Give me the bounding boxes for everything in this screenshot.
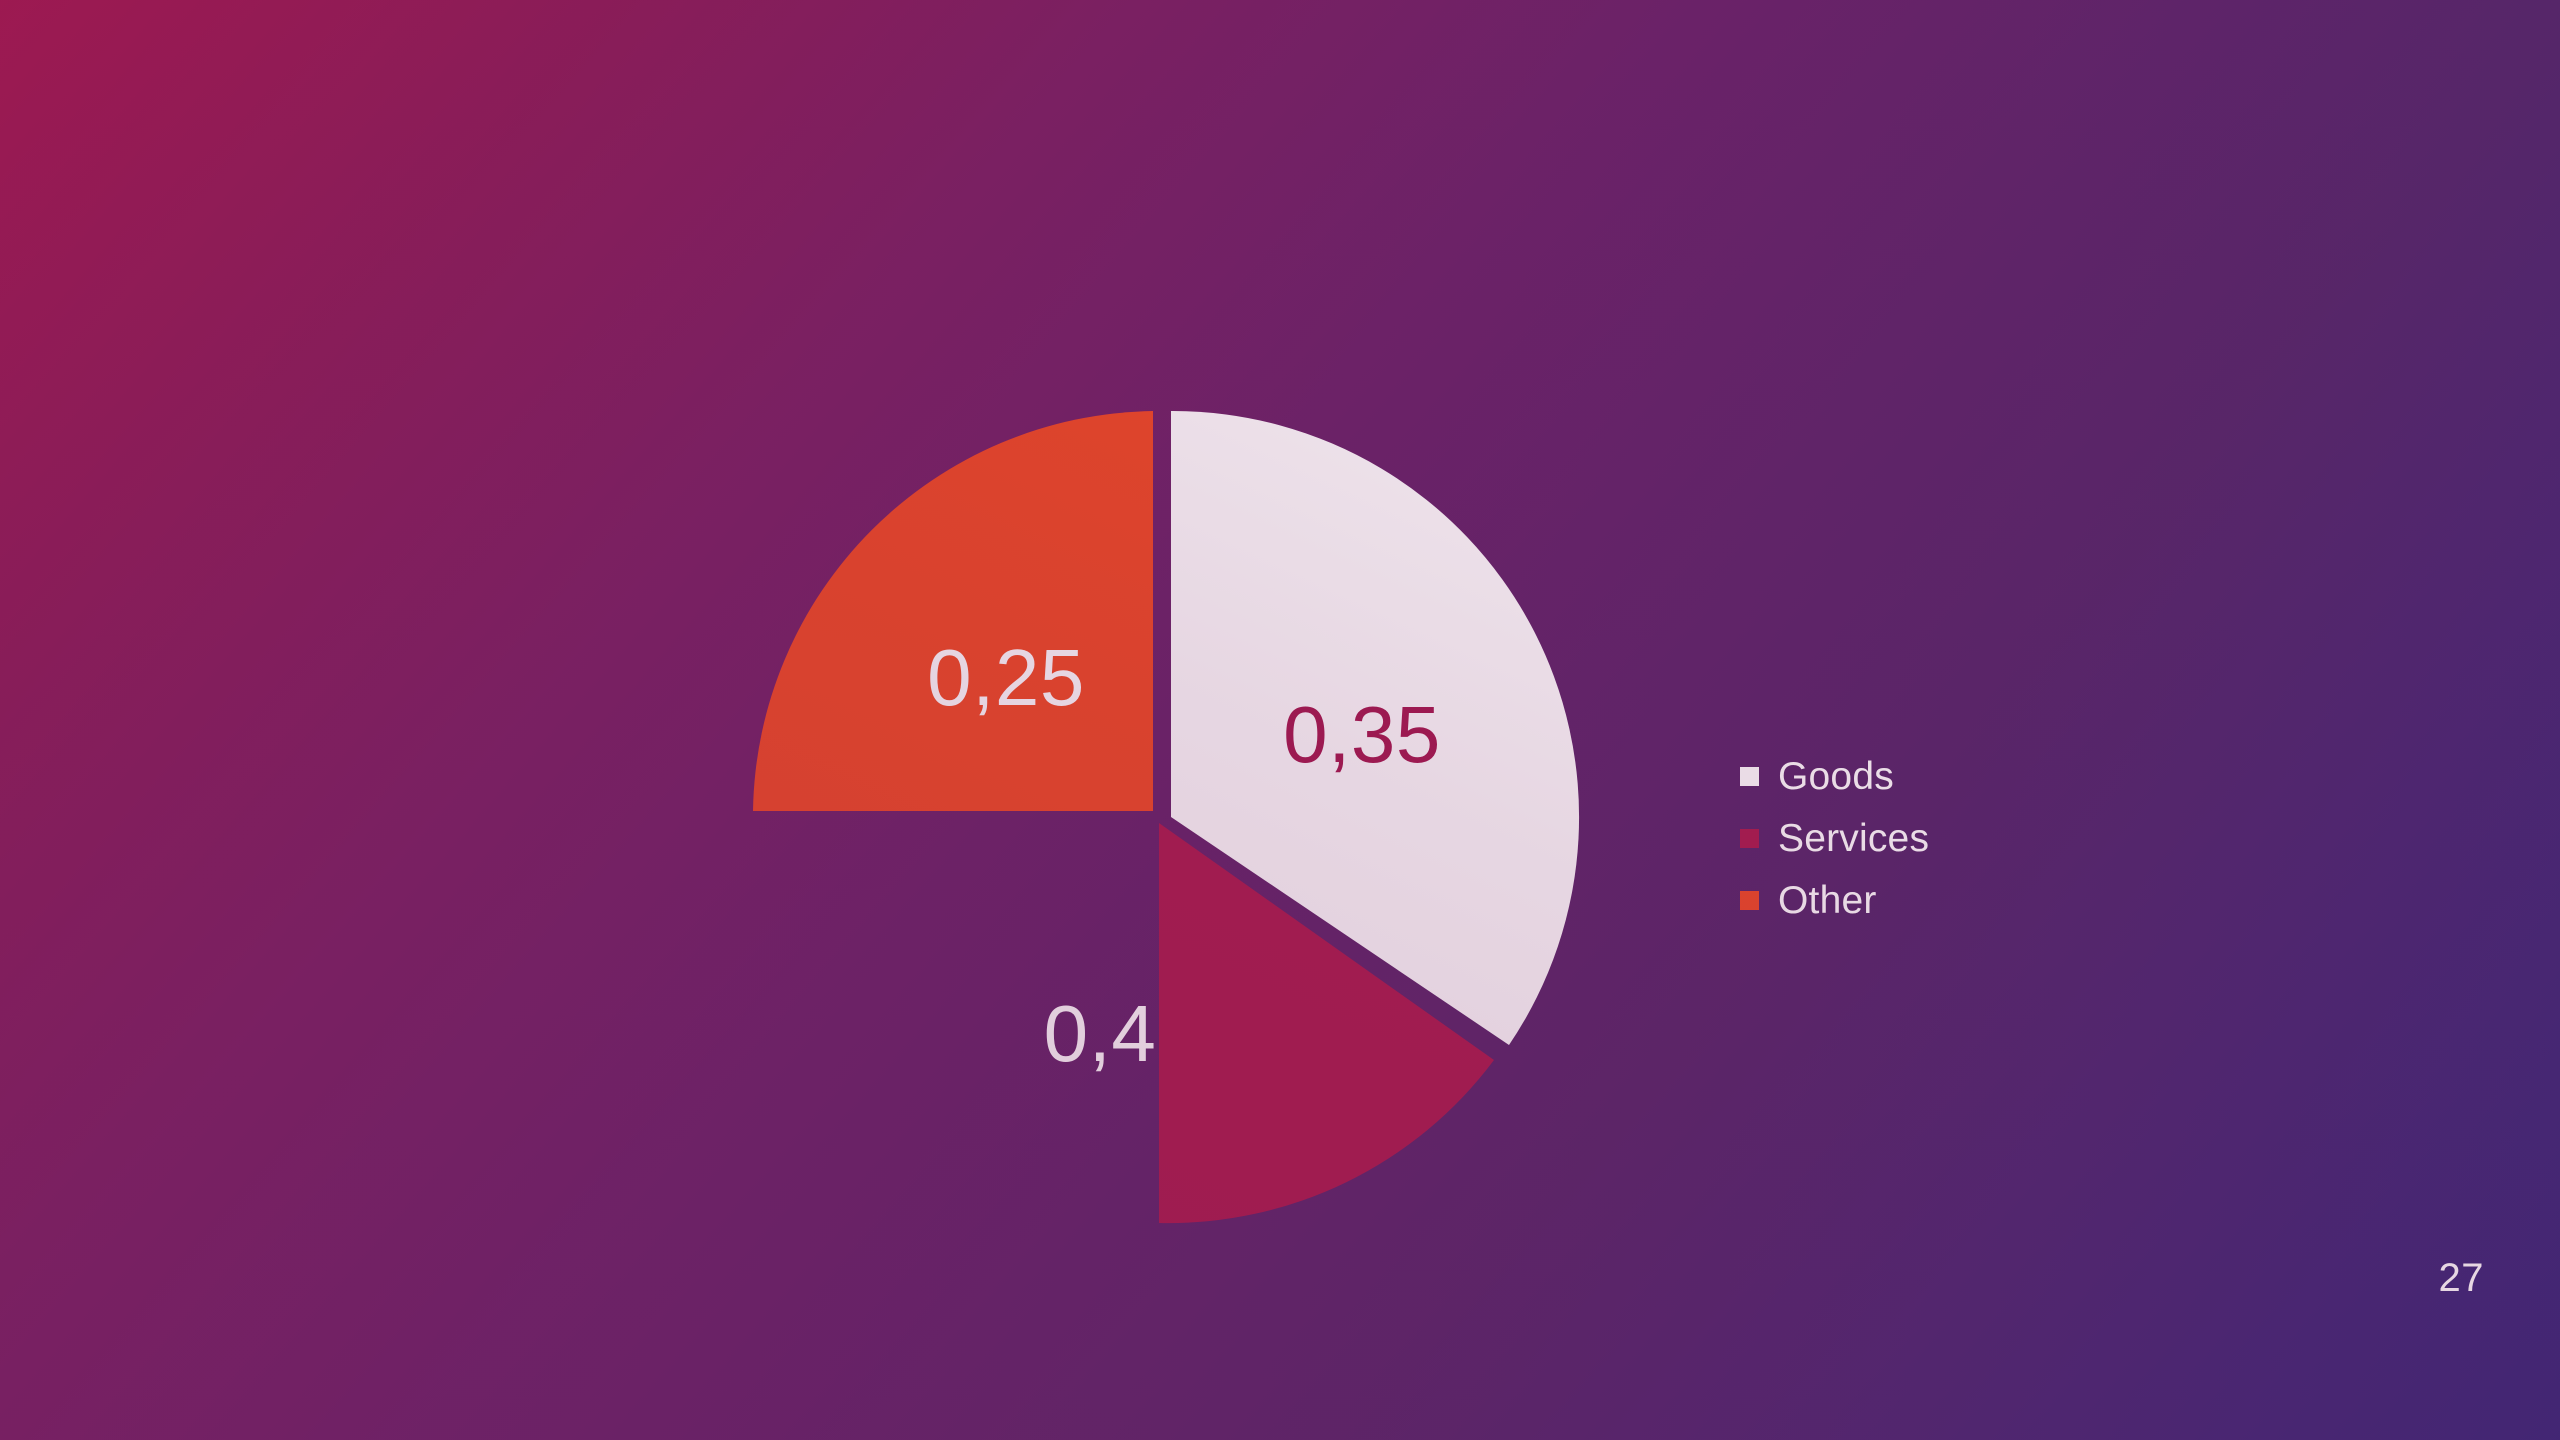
legend-label-goods: Goods <box>1778 757 1894 796</box>
legend-swatch-goods <box>1740 767 1759 786</box>
pie-label-services: 0,4 <box>1044 994 1157 1074</box>
legend-item-services[interactable]: Services <box>1740 807 1929 869</box>
slide-canvas: 0,35 0,4 0,25 Goods Services Other 27 <box>0 0 2560 1440</box>
chart-legend: Goods Services Other <box>1740 745 1929 931</box>
pie-label-goods: 0,35 <box>1283 695 1441 775</box>
legend-item-goods[interactable]: Goods <box>1740 745 1929 807</box>
pie-chart: 0,35 0,4 0,25 Goods Services Other <box>0 0 2560 1440</box>
legend-swatch-other <box>1740 891 1759 910</box>
legend-label-services: Services <box>1778 819 1929 858</box>
legend-swatch-services <box>1740 829 1759 848</box>
page-number: 27 <box>2439 1258 2485 1298</box>
pie-slice-other[interactable] <box>753 411 1153 811</box>
legend-item-other[interactable]: Other <box>1740 869 1929 931</box>
pie-chart-svg <box>0 0 2560 1440</box>
pie-label-other: 0,25 <box>927 638 1085 718</box>
legend-label-other: Other <box>1778 881 1877 920</box>
